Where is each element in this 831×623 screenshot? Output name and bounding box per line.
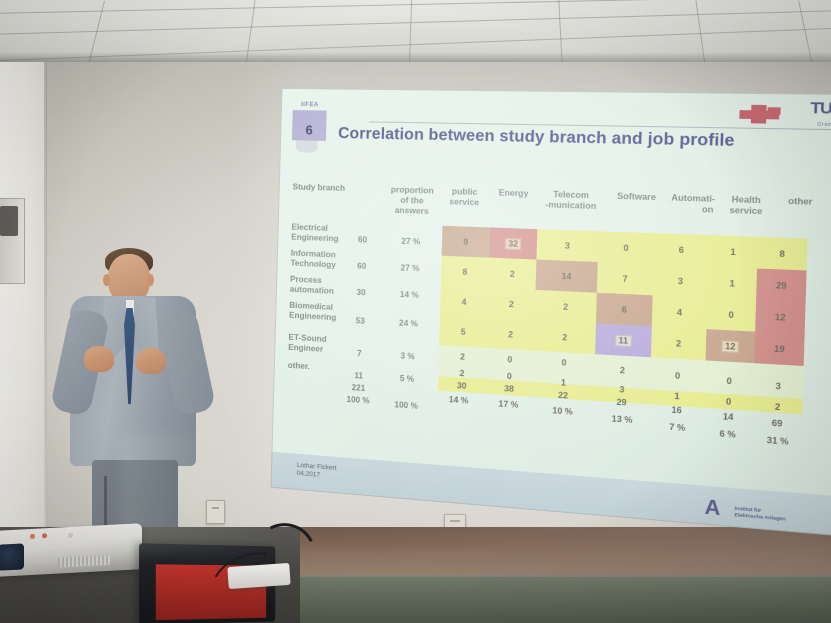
matrix-total-pct: 10 % [533, 402, 592, 421]
column-header-automation: Automati- on [665, 193, 721, 216]
row2-line2: automation [290, 285, 334, 297]
row-label-biomedical-engineering: Biomedical Engineering [289, 301, 337, 324]
row-label-et-sound-engineer: ET-Sound Engineer [288, 333, 327, 355]
matrix-value: 12 [721, 340, 739, 353]
table-corner-label: Study branch [292, 182, 345, 194]
data-table: Study branch proportion of the answers p… [281, 160, 831, 491]
matrix-cell: 3 [536, 229, 598, 262]
presenter [62, 248, 212, 548]
row-count-2: 30 [346, 287, 377, 298]
slide-footer-text: Lothar Fickert 04.2017 [297, 462, 337, 481]
institute-mark-icon: A [704, 498, 730, 521]
matrix-total: 29 [593, 393, 649, 412]
matrix-cell: 2 [487, 288, 535, 321]
wall-corner [44, 62, 47, 532]
row-proportion-1: 27 % [387, 263, 433, 274]
row1-line2: Technology [290, 259, 336, 271]
projector-indicator-1[interactable] [30, 534, 35, 539]
projector-button[interactable] [68, 533, 73, 538]
matrix-cell: 19 [754, 332, 804, 366]
projector-lens [0, 543, 24, 570]
matrix-cell: 9 [442, 226, 490, 258]
matrix-value: 1 [708, 277, 757, 289]
matrix-value: 2 [534, 331, 596, 344]
row-proportion-3: 24 % [386, 318, 432, 330]
total-pct-value: 14 % [433, 394, 484, 407]
matrix-value: 7 [597, 273, 653, 285]
matrix-cell: 32 [489, 227, 537, 259]
matrix-cell: 3 [753, 374, 803, 399]
matrix-cell: 4 [440, 286, 488, 318]
matrix-cell: 3 [653, 264, 709, 298]
matrix-value: 0 [704, 395, 753, 408]
column-header-telecommunication: Telecom -munication [535, 189, 608, 212]
total-pct-value: 13 % [594, 413, 650, 426]
matrix-value: 2 [535, 300, 597, 312]
matrix-value: 8 [757, 248, 807, 260]
total-value: 30 [438, 380, 486, 392]
total-value: 38 [485, 383, 532, 395]
col2-line2: -munication [535, 200, 608, 213]
matrix-value: 3 [537, 240, 599, 252]
matrix-total: 69 [752, 414, 802, 433]
total-value: 29 [594, 396, 650, 409]
row-count-total-pct: 100 % [339, 394, 378, 406]
matrix-value: 2 [439, 351, 487, 363]
matrix-total: 16 [649, 401, 704, 420]
matrix-value: 2 [487, 328, 534, 340]
column-header-other: other [774, 196, 827, 208]
matrix-value: 0 [533, 356, 595, 369]
matrix-total: 38 [485, 380, 533, 398]
row3-line2: Engineering [289, 311, 337, 324]
column-header-public-service: public service [441, 187, 488, 209]
col3-line1: Software [609, 191, 663, 203]
total-value: 14 [704, 411, 753, 424]
projection-screen: TU Graz IIFEA 6 Correlation between stud… [270, 88, 831, 536]
matrix-cell: 2 [534, 320, 596, 354]
row-count-total: 221 [343, 382, 374, 393]
matrix-value: 0 [705, 375, 754, 388]
matrix-value: 1 [709, 246, 758, 258]
matrix-value: 32 [505, 237, 522, 249]
matrix-cell: 5 [439, 315, 487, 348]
row-label-other: other. [288, 361, 310, 372]
matrix-value: 8 [441, 266, 489, 277]
matrix-value: 2 [488, 298, 536, 310]
row5-line1: other. [288, 361, 310, 372]
row-count-4: 7 [344, 348, 375, 359]
matrix-cell: 0 [598, 231, 655, 264]
col4-line2: on [665, 204, 720, 216]
total-pct-value: 31 % [752, 434, 804, 447]
matrix-value: 2 [489, 268, 537, 279]
matrix-value: 0 [707, 309, 756, 321]
row-label-electrical-engineering: Electrical Engineering [291, 222, 339, 244]
matrix-total-pct: 17 % [484, 396, 534, 414]
matrix-cell: 6 [596, 293, 653, 327]
badge-tail [296, 140, 318, 153]
matrix-cell: 7 [597, 262, 654, 295]
total-pct-value: 6 % [703, 428, 752, 441]
tu-logo-letters: TU [810, 99, 831, 118]
matrix-total-pct: 13 % [594, 410, 650, 429]
wall-device-left-screen [0, 206, 18, 236]
col4-line1: Automati- [666, 193, 721, 205]
institute-name: Institut für Elektrische Anlagen [734, 505, 786, 522]
matrix-cell: 4 [652, 295, 708, 329]
matrix-cell: 2 [651, 326, 707, 360]
row-proportion-total: 100 % [383, 399, 429, 411]
matrix-cell: 12 [755, 300, 805, 334]
matrix-value: 6 [596, 303, 652, 315]
matrix-cell: 0 [706, 298, 756, 332]
matrix-total-pct: 14 % [433, 391, 484, 409]
matrix-cell: 2 [487, 318, 535, 351]
column-header-software: Software [609, 191, 663, 203]
matrix-value: 3 [653, 275, 708, 287]
matrix-cell: 2 [488, 258, 536, 290]
tu-cross-icon [739, 105, 784, 124]
matrix-cell: 0 [650, 364, 705, 389]
matrix-cell: 0 [533, 351, 595, 376]
room-scene: TU Graz IIFEA 6 Correlation between stud… [0, 0, 831, 623]
column-header-energy: Energy [490, 188, 538, 200]
total-value: 16 [649, 404, 704, 417]
matrix-cell: 8 [441, 256, 489, 288]
presenter-ear-left [103, 274, 110, 286]
col5-line2: service [720, 205, 772, 217]
slide-title: Correlation between study branch and job… [338, 125, 831, 153]
presenter-hand-right [136, 348, 166, 374]
row-count-0: 60 [347, 235, 378, 245]
matrix-cell: 8 [757, 237, 807, 271]
matrix-value: 4 [652, 306, 707, 318]
matrix-total-pct: 31 % [752, 432, 804, 451]
matrix-value: 0 [650, 370, 705, 383]
matrix-cell: 6 [654, 233, 710, 266]
row-count-3: 53 [345, 316, 376, 327]
matrix-cell: 0 [705, 369, 754, 394]
total-pct-value: 10 % [533, 405, 592, 418]
matrix-value: 12 [755, 311, 805, 323]
matrix-value: 2 [753, 401, 803, 414]
tu-graz-logo: TU Graz [739, 99, 831, 129]
matrix-cell: 11 [595, 323, 652, 357]
heatmap-matrix: 9 32 3 0 6 1 8 8 2 14 7 3 1 29 4 [438, 226, 807, 406]
matrix-value: 2 [651, 337, 706, 350]
matrix-value: 11 [615, 334, 632, 347]
row-proportion-0: 27 % [388, 236, 434, 247]
col6-line1: other [774, 196, 827, 208]
row4-line2: Engineer [288, 343, 326, 355]
matrix-value: 5 [439, 326, 487, 338]
total-value: 69 [752, 417, 802, 430]
col0-line2: service [441, 197, 488, 209]
row-proportion-5: 5 % [384, 373, 430, 385]
column-header-proportion: proportion of the answers [383, 185, 442, 218]
matrix-cell: 1 [708, 235, 758, 268]
matrix-value: 3 [753, 380, 803, 393]
matrix-total-pct: 6 % [703, 425, 752, 444]
matrix-value: 19 [755, 343, 805, 356]
projector-vent [58, 555, 110, 568]
slide: TU Graz IIFEA 6 Correlation between stud… [270, 88, 831, 536]
side-wall [0, 62, 46, 532]
row-label-process-automation: Process automation [290, 275, 335, 297]
matrix-total-pct: 7 % [650, 418, 705, 437]
matrix-value: 0 [598, 242, 654, 254]
total-pct-value: 17 % [484, 398, 534, 411]
presenter-ear-right [147, 274, 154, 286]
matrix-cell: 12 [706, 329, 756, 363]
matrix-cell: 1 [707, 266, 757, 300]
matrix-total: 14 [704, 408, 753, 426]
row-count-1: 60 [346, 261, 377, 271]
matrix-value: 14 [536, 270, 598, 282]
matrix-value: 9 [442, 236, 490, 247]
floor-carpet [290, 577, 831, 623]
slide-number-badge: 6 [292, 110, 327, 141]
col1-line1: Energy [490, 188, 538, 200]
tu-logo-text: TU Graz [810, 101, 831, 132]
row-count-5: 11 [343, 370, 374, 381]
row-proportion-4: 3 % [385, 350, 431, 362]
projector [0, 523, 142, 577]
column-header-health-service: Health service [720, 194, 772, 217]
total-value: 22 [532, 389, 594, 402]
row-label-information-technology: Information Technology [290, 249, 336, 271]
row0-line2: Engineering [291, 233, 339, 245]
projector-indicator-2[interactable] [42, 533, 47, 538]
matrix-value: 0 [486, 354, 533, 366]
matrix-value: 29 [756, 279, 806, 291]
proportion-line3: answers [383, 205, 441, 217]
row-proportion-2: 14 % [386, 289, 432, 300]
matrix-value: 2 [594, 364, 650, 377]
matrix-cell: 29 [756, 268, 806, 302]
matrix-value: 6 [654, 244, 709, 256]
matrix-cell: 2 [535, 290, 597, 324]
matrix-value: 4 [440, 296, 488, 308]
presenter-hand-left [84, 346, 114, 372]
matrix-cell: 14 [536, 260, 598, 293]
total-pct-value: 7 % [650, 421, 705, 434]
